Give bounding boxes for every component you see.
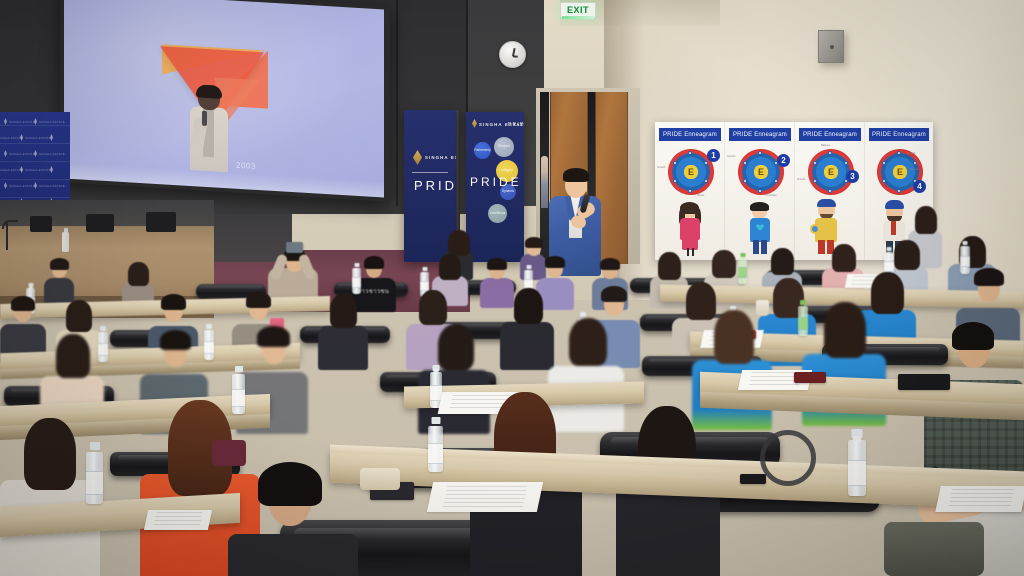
enneagram-character-2: [747, 204, 773, 254]
enneagram-character-1: [677, 204, 703, 254]
enneagram-number-2: 2: [777, 154, 790, 167]
enneagram-caption: Passion: [909, 168, 918, 171]
paper-handout: [144, 510, 212, 530]
water-bottle: [86, 452, 103, 504]
phone-held-up[interactable]: [286, 242, 303, 253]
stylus-on-desk[interactable]: [740, 474, 766, 484]
panel-seam: [396, 0, 398, 206]
exit-sign-glow: [562, 16, 594, 19]
attendee: [318, 294, 368, 368]
projection-screen: 2003: [64, 0, 384, 198]
enneagram-panel-1-header: PRIDE Enneagram: [659, 128, 721, 141]
snack-box: [360, 468, 400, 490]
water-bottle: [428, 426, 443, 472]
enneagram-header-text: PRIDE Enneagram: [872, 132, 926, 138]
podium-monitor: [146, 212, 176, 232]
enneagram-caption: Corporate: [765, 194, 777, 197]
enneagram-caption: Stress: [697, 194, 704, 197]
paper-handout: [427, 482, 543, 512]
podium-microphone-stand: [6, 222, 8, 250]
enneagram-caption: Growth: [797, 178, 805, 181]
attendee: [0, 418, 100, 576]
exit-sign-label: EXIT: [564, 5, 592, 15]
singha-logo-icon: [472, 119, 477, 128]
enneagram-panel-3-header: PRIDE Enneagram: [799, 128, 861, 141]
podium-water-bottle: [62, 232, 69, 252]
water-bottle: [352, 268, 361, 294]
enneagram-panel-2-header: PRIDE Enneagram: [729, 128, 791, 141]
rollup-1-divider: [412, 172, 448, 173]
podium-microphone-arm: [2, 220, 18, 229]
attendee: [44, 258, 74, 304]
backpack: [884, 522, 984, 576]
singha-logo-icon: [413, 150, 422, 165]
chair-base-ring: [760, 430, 816, 486]
conference-hall-photo: EXIT 2003 SINGHA ESTATE SINGHA ESTATE SI…: [0, 0, 1024, 576]
enneagram-center-letter: E: [738, 167, 784, 177]
enneagram-panel-4-header: PRIDE Enneagram: [869, 128, 929, 141]
screen-person-microphone: [202, 111, 207, 126]
podium-monitor: [30, 216, 52, 232]
enneagram-diagram-2: E: [738, 149, 784, 195]
electrical-control-box: [818, 30, 844, 63]
wall-clock-icon: [499, 41, 526, 68]
enneagram-caption: Growth: [727, 155, 735, 158]
rollup-1-title: PRIDE: [414, 178, 456, 193]
enneagram-header-text: PRIDE Enneagram: [803, 132, 857, 138]
water-bottle: [848, 440, 866, 496]
phone-on-desk[interactable]: [794, 372, 826, 383]
enneagram-center-letter: E: [668, 167, 714, 177]
value-circle-excellence: Excellence: [488, 204, 507, 223]
screen-caption: 2003: [236, 161, 256, 171]
control-box-dot: [830, 45, 834, 49]
value-circle-respect: Respect: [494, 137, 514, 157]
screen-live-feed-person: [188, 86, 232, 173]
rollup-2-title: PRIDE: [470, 175, 522, 189]
podium-monitor: [86, 214, 114, 232]
water-bottle-green: [738, 258, 747, 284]
enneagram-number-3: 3: [846, 170, 859, 183]
enneagram-number-1: 1: [707, 149, 720, 162]
value-circle-partnership: Partnership: [474, 142, 491, 159]
enneagram-header-text: PRIDE Enneagram: [733, 132, 787, 138]
enneagram-number-4: 4: [913, 180, 926, 193]
rollup-1-brand: SINGHA ESTATE: [425, 155, 456, 160]
enneagram-caption: Balance: [821, 144, 830, 147]
enneagram-header-text: PRIDE Enneagram: [663, 132, 717, 138]
rollup-2-small-title: PRIDE: [508, 122, 524, 128]
water-bottle: [232, 374, 245, 414]
person-in-doorway: [541, 156, 548, 208]
bag-on-desk: [212, 440, 246, 466]
speaker-hair: [563, 168, 589, 182]
enneagram-caption: Growth: [907, 152, 915, 155]
paper-handout: [935, 486, 1024, 512]
shirt-text: ชาวชาวชน: [357, 286, 391, 293]
enneagram-caption: Growth: [657, 166, 665, 169]
rollup-banner-2: SINGHA ESTATE PRIDE Partnership Respect …: [466, 112, 524, 262]
attendee: [500, 288, 554, 368]
tablet-on-desk[interactable]: [898, 374, 950, 390]
